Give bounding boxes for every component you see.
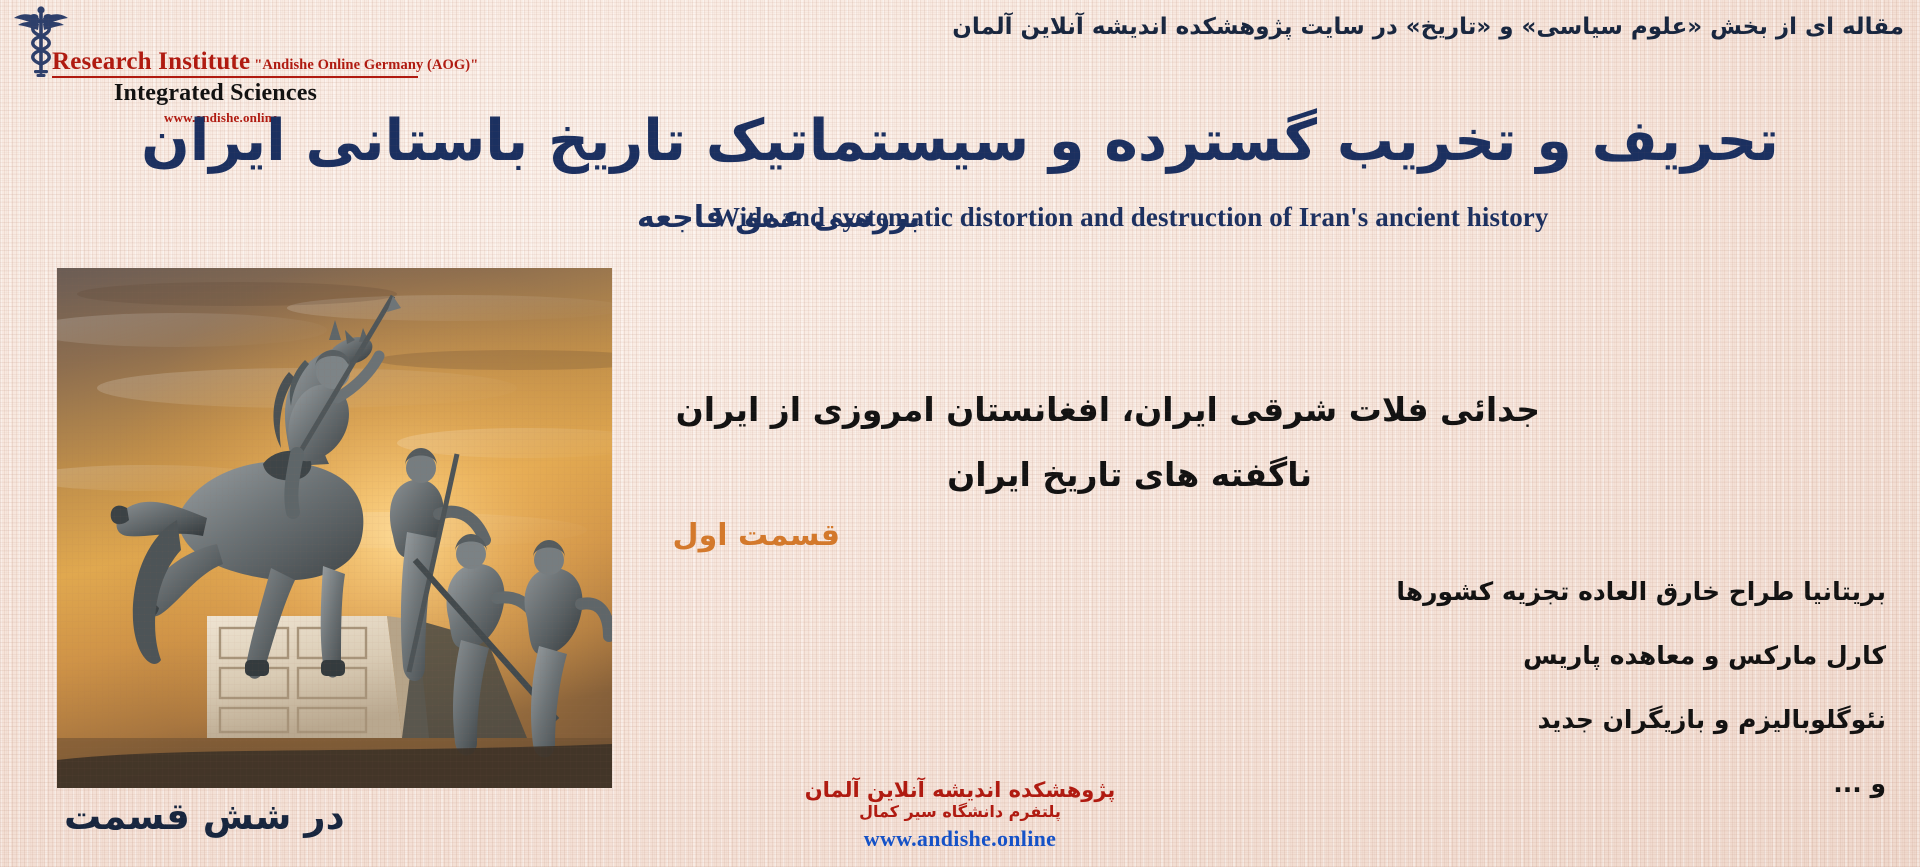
headline-primary: جدائی فلات شرقی ایران، افغانستان امروزی …	[676, 390, 1540, 429]
article-section-kicker: مقاله ای از بخش «علوم سیاسی» و «تاریخ» د…	[952, 14, 1904, 40]
subtitle-row: بررسی عمق فاجعه Wide and systematic dist…	[0, 200, 1920, 240]
footer-block: پژوهشکده اندیشه آنلاین آلمان پلتفرم دانش…	[760, 778, 1160, 852]
series-parts-note: در شش قسمت	[64, 795, 345, 838]
list-item: کارل مارکس و معاهده پاریس	[1006, 641, 1886, 670]
part-number-label: قسمت اول	[673, 518, 840, 553]
institute-second-line: Integrated Sciences	[114, 80, 317, 107]
page-title-persian: تحریف و تخریب گسترده و سیستماتیک تاریخ ب…	[40, 108, 1880, 174]
institute-name: Research Institute	[52, 48, 250, 75]
topic-list: بریتانیا طراح خارق العاده تجزیه کشورها ک…	[1006, 577, 1886, 798]
footer-url[interactable]: www.andishe.online	[760, 826, 1160, 852]
institute-quoted-name: "Andishe Online Germany (AOG)"	[254, 57, 478, 73]
poster-canvas: Research Institute "Andishe Online Germa…	[0, 0, 1920, 867]
institute-underline-divider	[52, 76, 418, 78]
footer-platform: پلتفرم دانشگاه سیر کمال	[760, 802, 1160, 821]
institute-logo-block: Research Institute "Andishe Online Germa…	[4, 4, 474, 112]
institute-title-line: Research Institute "Andishe Online Germa…	[52, 48, 478, 76]
footer-organization: پژوهشکده اندیشه آنلاین آلمان	[760, 778, 1160, 802]
monument-photo	[57, 268, 612, 788]
headline-secondary: ناگفته های تاریخ ایران	[947, 455, 1312, 494]
list-item: بریتانیا طراح خارق العاده تجزیه کشورها	[1006, 577, 1886, 606]
list-item: نئوگلوبالیزم و بازیگران جدید	[1006, 705, 1886, 734]
page-subtitle-english: Wide and systematic distortion and destr…	[713, 202, 1549, 233]
